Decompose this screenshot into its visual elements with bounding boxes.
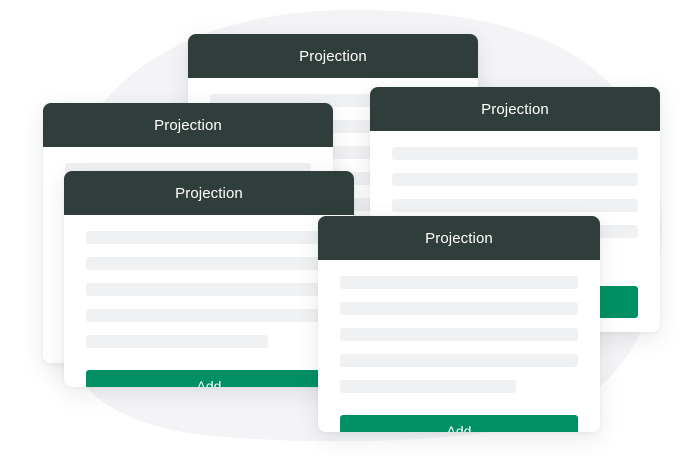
card-title: Projection xyxy=(175,185,243,202)
skeleton-line xyxy=(340,302,578,315)
card-header: Projection xyxy=(370,87,660,131)
illustration-stage: Projection Projection Projection xyxy=(0,0,698,460)
skeleton-line xyxy=(86,309,332,322)
skeleton-line xyxy=(86,257,332,270)
skeleton-line xyxy=(340,354,578,367)
skeleton-line xyxy=(340,328,578,341)
projection-card[interactable]: Projection Add xyxy=(318,216,600,432)
card-body: Add xyxy=(318,260,600,432)
skeleton-line xyxy=(392,147,638,160)
skeleton-line xyxy=(392,199,638,212)
add-button[interactable]: Add xyxy=(86,370,332,387)
skeleton-line xyxy=(86,283,332,296)
skeleton-line xyxy=(86,231,332,244)
card-title: Projection xyxy=(299,48,367,65)
skeleton-line xyxy=(340,380,516,393)
projection-card[interactable]: Projection Add xyxy=(64,171,354,387)
card-header: Projection xyxy=(64,171,354,215)
card-body: Add xyxy=(64,215,354,387)
card-header: Projection xyxy=(43,103,333,147)
skeleton-line xyxy=(86,335,268,348)
card-title: Projection xyxy=(481,101,549,118)
skeleton-line xyxy=(340,276,578,289)
card-header: Projection xyxy=(188,34,478,78)
card-title: Projection xyxy=(154,117,222,134)
card-header: Projection xyxy=(318,216,600,260)
card-title: Projection xyxy=(425,230,493,247)
skeleton-line xyxy=(392,173,638,186)
add-button[interactable]: Add xyxy=(340,415,578,432)
